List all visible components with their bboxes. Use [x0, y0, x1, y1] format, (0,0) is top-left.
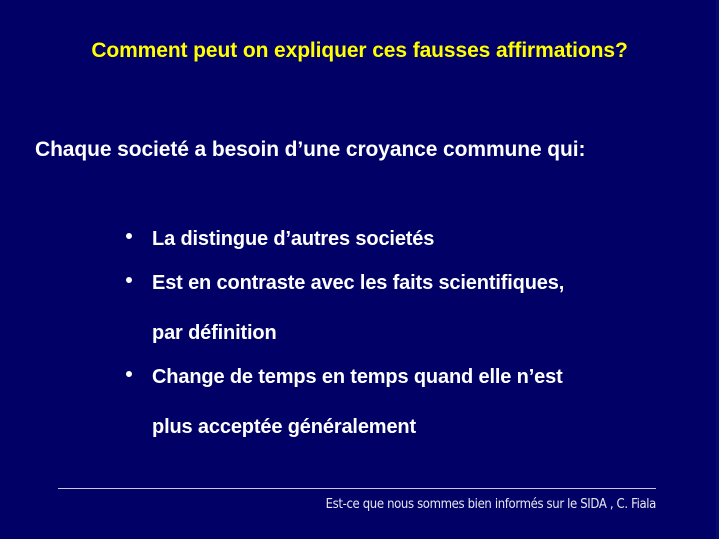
bullet-dot-icon — [126, 277, 132, 283]
footer-caption: Est-ce que nous sommes bien informés sur… — [118, 496, 656, 513]
bullet-text-block: Est en contraste avec les faits scientif… — [152, 270, 696, 346]
list-item: La distingue d’autres societés — [126, 226, 696, 252]
footer-divider — [58, 488, 656, 489]
bullet-line: Est en contraste avec les faits scientif… — [152, 270, 696, 296]
bullet-line-continuation: plus acceptée généralement — [152, 414, 696, 440]
bullet-dot-icon — [126, 233, 132, 239]
list-item: Est en contraste avec les faits scientif… — [126, 270, 696, 346]
presentation-slide: Comment peut on expliquer ces fausses af… — [0, 0, 719, 539]
bullet-line-continuation: par définition — [152, 320, 696, 346]
bullet-text-block: La distingue d’autres societés — [152, 226, 696, 252]
bullet-list: La distingue d’autres societés Est en co… — [126, 226, 696, 440]
slide-title: Comment peut on expliquer ces fausses af… — [0, 38, 719, 64]
list-item: Change de temps en temps quand elle n’es… — [126, 364, 696, 440]
bullet-dot-icon — [126, 371, 132, 377]
bullet-line: La distingue d’autres societés — [152, 226, 696, 252]
bullet-line: Change de temps en temps quand elle n’es… — [152, 364, 696, 390]
slide-subtitle: Chaque societé a besoin d’une croyance c… — [35, 136, 685, 163]
bullet-text-block: Change de temps en temps quand elle n’es… — [152, 364, 696, 440]
